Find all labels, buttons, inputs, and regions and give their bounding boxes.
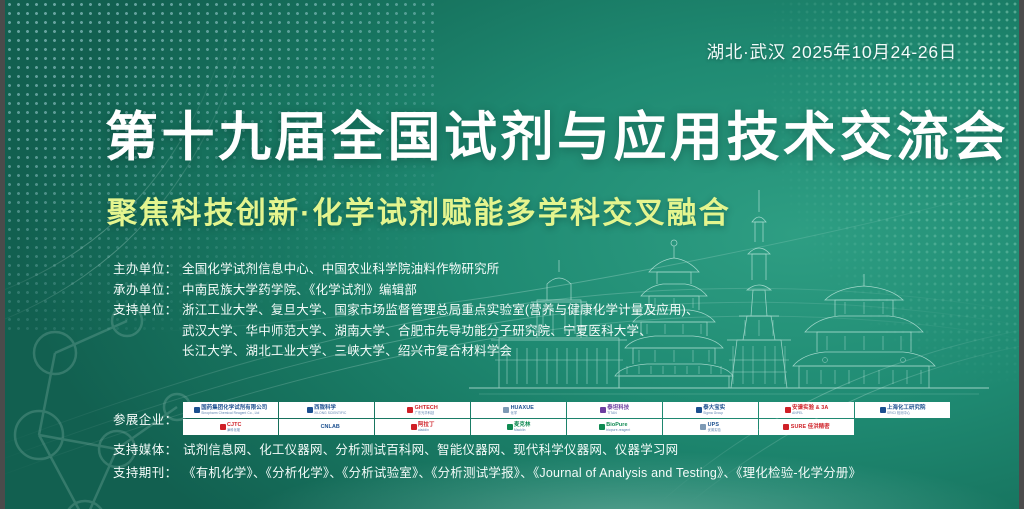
host-value: 全国化学试剂信息中心、中国农业科学院油料作物研究所 — [182, 259, 500, 280]
exhibitors-row: 参展企业： 国药集团化学试剂有限公司Sinopharm Chemical Rea… — [113, 402, 950, 438]
page-subtitle: 聚焦科技创新·化学试剂赋能多学科交叉融合 — [107, 188, 731, 232]
media-row: 支持媒体： 试剂信息网、化工仪器网、分析测试百科网、智能仪器网、现代科学仪器网、… — [113, 440, 950, 460]
exhibitor-logo[interactable]: 麦克林Macklin — [471, 419, 566, 435]
support-value-line-3: 长江大学、湖北工业大学、三峡大学、绍兴市复合材料学会 — [113, 341, 699, 362]
support-label: 支持单位： — [113, 300, 182, 321]
exhibitor-logo[interactable]: 国药集团化学试剂有限公司Sinopharm Chemical Reagent C… — [183, 402, 278, 418]
organizer-value: 中南民族大学药学院、《化学试剂》编辑部 — [182, 280, 417, 301]
exhibitor-logo[interactable]: CNLAB — [279, 419, 374, 435]
page-title: 第十九届全国试剂与应用技术交流会 — [105, 108, 1009, 167]
exhibitor-logo[interactable]: GHTECH广东光华科技 — [375, 402, 470, 418]
organizer-row: 承办单位： 中南民族大学药学院、《化学试剂》编辑部 — [113, 280, 699, 301]
exhibitor-logo[interactable]: 上海化工研究院SRICI 检测中心 — [855, 402, 950, 418]
organizer-label: 承办单位： — [113, 280, 182, 301]
exhibitor-logo[interactable]: 阿拉丁aladdin — [375, 419, 470, 435]
exhibitor-logo[interactable]: BioPurebiopure-reagent — [567, 419, 662, 435]
exhibitor-logo-grid: 国药集团化学试剂有限公司Sinopharm Chemical Reagent C… — [183, 402, 950, 435]
media-value: 试剂信息网、化工仪器网、分析测试百科网、智能仪器网、现代科学仪器网、仪器学习网 — [183, 440, 678, 460]
exhibitor-logo[interactable]: 安谱实验 & 3AANPEL — [759, 402, 854, 418]
support-value-line-2: 武汉大学、华中师范大学、湖南大学、合肥市先导功能分子研究院、宁夏医科大学、 — [113, 321, 699, 342]
journals-label: 支持期刊： — [113, 463, 183, 483]
poster-content: 湖北·武汉 2025年10月24-26日 第十九届全国试剂与应用技术交流会 聚焦… — [5, 0, 1019, 509]
support-row: 支持单位： 浙江工业大学、复旦大学、国家市场监督管理总局重点实验室(营养与健康化… — [113, 300, 699, 321]
event-date-location: 湖北·武汉 2025年10月24-26日 — [707, 39, 957, 64]
exhibitor-logo[interactable]: 泰大宝实Sigma Group — [663, 402, 758, 418]
exhibitor-logo[interactable]: 西陇科学XILONG SCIENTIFIC — [279, 402, 374, 418]
exhibitor-logo[interactable]: HUAXUE化学 — [471, 402, 566, 418]
host-row: 主办单位： 全国化学试剂信息中心、中国农业科学院油料作物研究所 — [113, 259, 699, 280]
journals-row: 支持期刊： 《有机化学》、《分析化学》、《分析试验室》、《分析测试学报》、《Jo… — [113, 463, 950, 483]
organizer-block: 主办单位： 全国化学试剂信息中心、中国农业科学院油料作物研究所 承办单位： 中南… — [113, 259, 699, 362]
support-value-line-1: 浙江工业大学、复旦大学、国家市场监督管理总局重点实验室(营养与健康化学计量及应用… — [182, 300, 699, 321]
bottom-info-block: 参展企业： 国药集团化学试剂有限公司Sinopharm Chemical Rea… — [113, 402, 950, 483]
exhibitor-logo[interactable]: UPS优普实验 — [663, 419, 758, 435]
exhibitor-logo[interactable]: SURE 佳洪精密 — [759, 419, 854, 435]
journals-value: 《有机化学》、《分析化学》、《分析试验室》、《分析测试学报》、《Journal … — [183, 463, 861, 483]
exhibitor-logo[interactable]: CJTC津科化玻 — [183, 419, 278, 435]
exhibitors-label: 参展企业： — [113, 402, 183, 438]
logo-cell-empty — [855, 419, 950, 435]
conference-poster: 湖北·武汉 2025年10月24-26日 第十九届全国试剂与应用技术交流会 聚焦… — [0, 0, 1024, 509]
exhibitor-logo[interactable]: 泰坦科技TITAN — [567, 402, 662, 418]
media-label: 支持媒体： — [113, 440, 183, 460]
host-label: 主办单位： — [113, 259, 182, 280]
